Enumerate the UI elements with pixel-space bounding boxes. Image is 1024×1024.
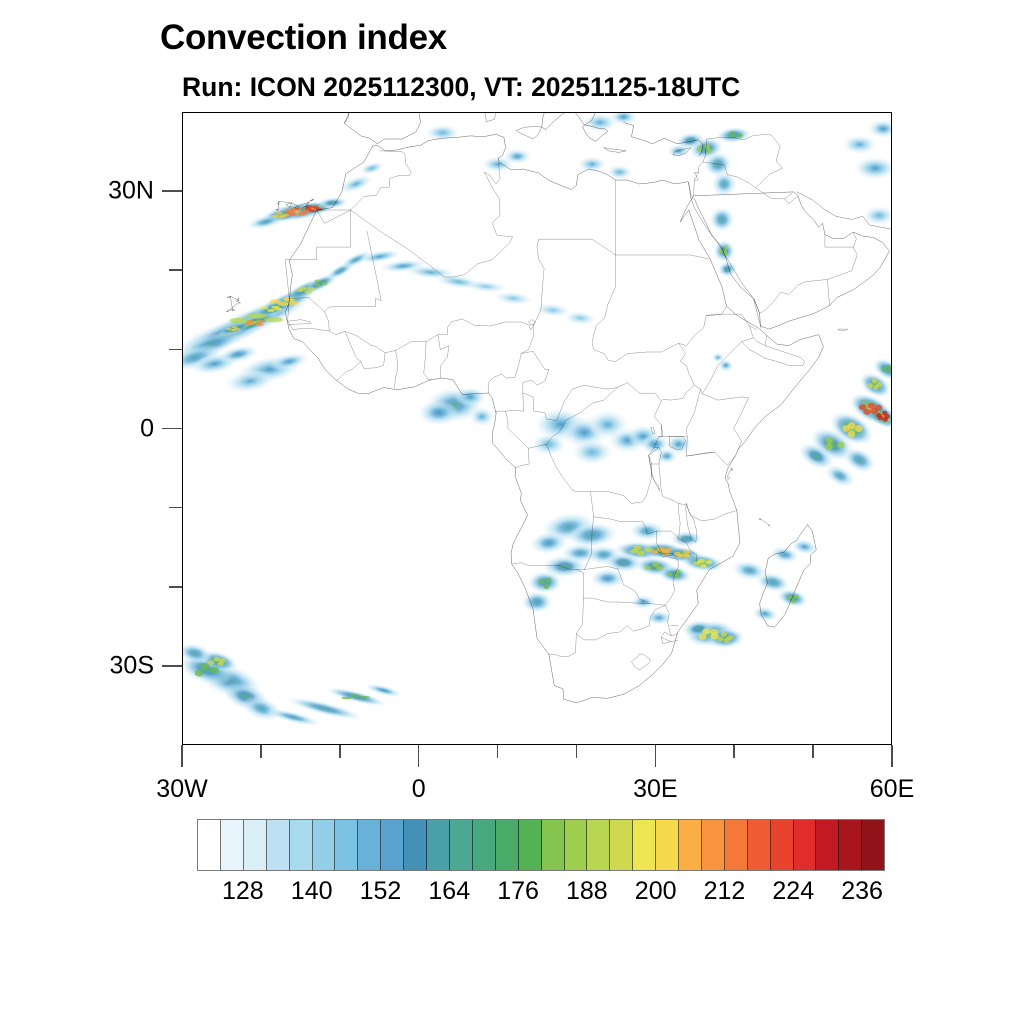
geo-outline	[706, 314, 757, 330]
colorbar-cell	[404, 820, 427, 870]
convection-cell	[521, 591, 552, 613]
convection-core	[652, 562, 659, 567]
convection-core	[255, 323, 264, 326]
convection-core	[674, 552, 681, 556]
convection-core	[683, 554, 690, 558]
convection-core	[247, 313, 266, 319]
geo-outline	[488, 324, 534, 393]
convection-core	[226, 328, 232, 330]
colorbar-tick-label: 212	[704, 877, 746, 906]
x-tick	[260, 745, 262, 758]
convection-core	[539, 579, 545, 584]
geo-outline	[438, 335, 449, 378]
geo-outline	[749, 326, 766, 346]
x-tick	[418, 745, 420, 767]
y-axis-label: 30N	[108, 177, 154, 206]
colorbar-cell	[542, 820, 565, 870]
colorbar-cell	[610, 820, 633, 870]
convection-core	[721, 632, 727, 637]
colorbar-cell	[565, 820, 588, 870]
colorbar-cell	[358, 820, 381, 870]
convection-core	[791, 599, 796, 603]
colorbar-cell	[244, 820, 267, 870]
colorbar-cell	[633, 820, 656, 870]
convection-cell	[494, 290, 533, 306]
colorbar-tick-label: 140	[291, 877, 333, 906]
colorbar-cell	[313, 820, 336, 870]
geo-outline	[528, 320, 535, 325]
colorbar-cell	[450, 820, 473, 870]
convection-core	[868, 403, 876, 409]
convection-cell	[572, 440, 613, 465]
convection-core	[867, 383, 873, 388]
convection-core	[308, 287, 316, 290]
convection-core	[314, 280, 320, 283]
colorbar-cell	[221, 820, 244, 870]
colorbar-tick-label: 188	[566, 877, 608, 906]
x-axis-label: 30W	[156, 775, 207, 804]
convection-core	[717, 637, 723, 642]
convection-core	[296, 289, 304, 292]
colorbar-cell	[427, 820, 450, 870]
geo-outline	[506, 411, 530, 468]
convection-core	[213, 657, 220, 662]
convection-core	[291, 207, 302, 211]
x-tick	[181, 745, 183, 767]
geo-outline	[336, 361, 360, 380]
convection-core	[276, 212, 283, 215]
colorbar-cell	[496, 820, 519, 870]
convection-core	[546, 577, 552, 582]
geo-outline	[521, 351, 694, 420]
x-tick	[891, 745, 893, 767]
geo-outline	[679, 306, 727, 345]
geo-outline	[734, 429, 742, 450]
convection-core	[705, 144, 711, 149]
convection-cell	[707, 205, 736, 234]
x-tick	[812, 745, 814, 758]
convection-core	[656, 566, 663, 571]
colorbar-cell	[473, 820, 496, 870]
convection-core	[727, 635, 733, 640]
convection-cell	[855, 157, 891, 179]
convection-core	[200, 663, 209, 670]
convection-core	[876, 413, 882, 418]
y-tick	[162, 665, 182, 667]
colorbar-cell	[771, 820, 794, 870]
convection-core	[304, 291, 312, 294]
convection-core	[859, 404, 867, 410]
convection-core	[235, 328, 241, 330]
convection-core	[876, 382, 882, 387]
convection-core	[342, 697, 352, 700]
convection-core	[794, 594, 799, 598]
convection-cell	[631, 595, 656, 609]
geo-outline	[549, 598, 584, 656]
geo-outline	[694, 156, 706, 196]
colorbar-tick-label: 236	[841, 877, 883, 906]
x-tick	[655, 745, 657, 767]
colorbar-cell	[519, 820, 542, 870]
convection-cell	[671, 531, 702, 547]
colorbar-cell	[702, 820, 725, 870]
convection-cell	[867, 119, 891, 138]
y-tick	[169, 269, 182, 271]
convection-core	[683, 550, 690, 554]
convection-core	[544, 584, 550, 589]
x-axis-label: 0	[412, 775, 426, 804]
colorbar-cell	[725, 820, 748, 870]
convection-cell	[656, 448, 678, 464]
colorbar-cell	[381, 820, 404, 870]
convection-cell	[418, 400, 459, 425]
convection-core	[350, 694, 360, 697]
geo-outline	[659, 464, 737, 521]
geo-outline	[661, 638, 670, 644]
convection-cell	[337, 171, 374, 196]
colorbar-tick-label: 152	[360, 877, 402, 906]
x-axis-label: 60E	[870, 775, 914, 804]
map-plot-area[interactable]	[182, 112, 892, 745]
convection-core	[267, 309, 275, 312]
convection-core	[675, 570, 681, 574]
geo-outline	[727, 468, 733, 480]
convection-core	[195, 670, 204, 677]
convection-core	[662, 551, 670, 555]
geo-outline	[754, 299, 760, 313]
colorbar-tick-label: 176	[497, 877, 539, 906]
colorbar-cell	[335, 820, 358, 870]
convection-core	[855, 425, 863, 432]
convection-core	[271, 306, 279, 309]
convection-core	[644, 566, 651, 571]
colorbar-cell	[679, 820, 702, 870]
convection-cell	[752, 605, 779, 623]
geo-outline	[825, 234, 853, 247]
geo-outline	[760, 279, 830, 313]
convection-cell	[590, 569, 625, 588]
geo-outline	[616, 255, 709, 259]
convection-core	[707, 148, 713, 153]
colorbar-tick-label: 128	[222, 877, 264, 906]
convection-core	[881, 367, 886, 372]
convection-core	[729, 131, 735, 135]
colorbar-tick-label: 164	[428, 877, 470, 906]
convection-cell	[454, 387, 485, 406]
convection-core	[826, 437, 834, 444]
geo-outline	[838, 329, 847, 331]
colorbar-cell	[862, 820, 884, 870]
colorbar-tick-label: 224	[772, 877, 814, 906]
y-tick	[169, 349, 182, 351]
x-tick	[497, 745, 499, 758]
y-axis-label: 30S	[110, 651, 154, 680]
convection-core	[737, 134, 743, 138]
convection-core	[697, 146, 703, 151]
convection-core	[306, 205, 313, 208]
convection-core	[702, 628, 710, 634]
convection-core	[842, 425, 850, 432]
geo-outline	[631, 654, 650, 670]
colorbar-cell	[839, 820, 862, 870]
geo-outline	[395, 350, 398, 388]
geo-outline	[785, 196, 798, 204]
convection-cell	[842, 135, 877, 154]
convection-core	[875, 405, 883, 411]
geo-outline	[496, 393, 524, 414]
convection-core	[694, 561, 701, 565]
y-tick	[162, 428, 182, 430]
convection-cell	[503, 148, 531, 164]
convection-core	[269, 300, 280, 304]
geo-outline	[604, 148, 626, 153]
convection-core	[210, 667, 219, 674]
convection-core	[217, 662, 224, 667]
convection-core	[705, 560, 712, 564]
convection-cell	[607, 165, 632, 179]
geo-outline	[689, 182, 691, 196]
run-valid-time-subtitle: Run: ICON 2025112300, VT: 20251125-18UTC	[182, 72, 740, 103]
page-title: Convection index	[160, 18, 447, 58]
geo-outline	[827, 232, 857, 279]
convection-core	[837, 442, 845, 449]
colorbar-cell	[267, 820, 290, 870]
convection-core	[272, 214, 279, 217]
convection-core	[315, 283, 321, 286]
convection-cell	[712, 353, 725, 362]
colorbar-tick-label: 200	[635, 877, 677, 906]
colorbar[interactable]: 128140152164176188200212224236	[197, 819, 885, 871]
convection-cell	[531, 433, 566, 455]
y-tick	[169, 507, 182, 509]
colorbar-cell	[748, 820, 771, 870]
geo-outline	[590, 492, 593, 517]
y-axis-label: 0	[140, 414, 154, 443]
convection-cell	[528, 571, 563, 593]
convection-core	[700, 564, 707, 568]
convection-core	[283, 214, 290, 217]
convection-core	[825, 443, 833, 450]
geo-outline	[484, 113, 497, 122]
geo-outline	[288, 312, 330, 331]
africa-map-svg	[183, 113, 891, 744]
colorbar-cell	[198, 820, 221, 870]
convection-core	[322, 282, 328, 285]
colorbar-cell	[290, 820, 313, 870]
colorbar-gradient	[197, 819, 885, 871]
colorbar-cell	[816, 820, 839, 870]
y-tick	[169, 586, 182, 588]
colorbar-cell	[794, 820, 817, 870]
convection-core	[882, 417, 888, 422]
convection-core	[264, 317, 283, 323]
convection-cell	[358, 160, 385, 177]
x-tick	[339, 745, 341, 758]
convection-core	[208, 660, 215, 665]
x-axis-label: 30E	[633, 775, 677, 804]
geo-outline	[345, 331, 385, 368]
convection-core	[360, 696, 370, 699]
geo-outline	[760, 518, 770, 526]
x-tick	[576, 745, 578, 758]
convection-core	[651, 550, 659, 554]
geo-outline	[226, 296, 240, 312]
convection-core	[787, 595, 792, 599]
convection-core	[725, 245, 729, 250]
convection-core	[719, 248, 723, 253]
convection-core	[232, 326, 238, 328]
convection-core	[886, 364, 891, 369]
geo-outline	[742, 342, 805, 366]
convection-core	[848, 431, 856, 438]
x-tick	[733, 745, 735, 758]
y-tick	[162, 190, 182, 192]
convection-core	[667, 572, 673, 576]
geo-outline	[424, 342, 432, 380]
convection-core	[699, 634, 707, 640]
convection-cell	[469, 407, 494, 426]
convection-core	[256, 320, 265, 323]
geo-outline	[686, 389, 700, 437]
convection-index-field	[183, 113, 891, 729]
convection-core	[728, 134, 734, 138]
convection-core	[872, 378, 878, 383]
colorbar-cell	[587, 820, 610, 870]
convection-core	[637, 551, 645, 556]
convection-core	[297, 211, 308, 215]
colorbar-cell	[656, 820, 679, 870]
convection-core	[244, 322, 253, 325]
geo-outline	[517, 126, 542, 139]
convection-core	[633, 546, 641, 551]
convection-core	[260, 306, 268, 309]
